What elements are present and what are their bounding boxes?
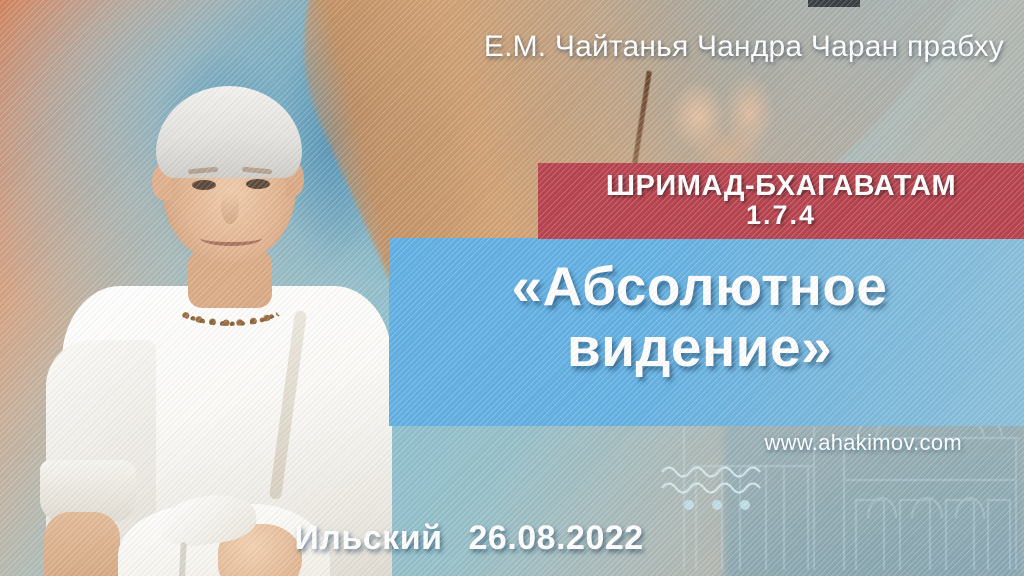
page-title-line-1: «Абсолютное: [389, 256, 1010, 317]
scripture-banner: ШРИМАД-БХАГАВАТАМ 1.7.4: [538, 163, 1024, 239]
portrait-eye-left: [192, 180, 216, 190]
top-dark-strip: [808, 0, 860, 7]
portrait-mouth: [200, 230, 262, 246]
page-title-line-2: видение»: [389, 317, 1010, 378]
tulsi-bead-necklace-inner: [176, 286, 284, 326]
website-url[interactable]: www.ahakimov.com: [764, 430, 962, 456]
event-location: Ильский: [294, 519, 442, 557]
speaker-portrait: [10, 72, 430, 576]
scripture-verse: 1.7.4: [746, 201, 816, 231]
page-title: «Абсолютное видение»: [389, 256, 1010, 377]
scripture-name: ШРИМАД-БХАГАВАТАМ: [606, 171, 956, 201]
wave-ornament-icon: [658, 460, 778, 512]
lecture-title-card: ШРИМАД-БХАГАВАТАМ 1.7.4 Е.М. Чайтанья Ча…: [0, 0, 1024, 576]
event-footer: Ильский26.08.2022: [0, 519, 1024, 558]
speaker-name: Е.М. Чайтанья Чандра Чаран прабху: [0, 30, 1004, 64]
portrait-hair: [156, 86, 302, 178]
portrait-eye-right: [246, 179, 270, 189]
portrait-nose: [221, 190, 239, 224]
event-date: 26.08.2022: [469, 519, 644, 557]
